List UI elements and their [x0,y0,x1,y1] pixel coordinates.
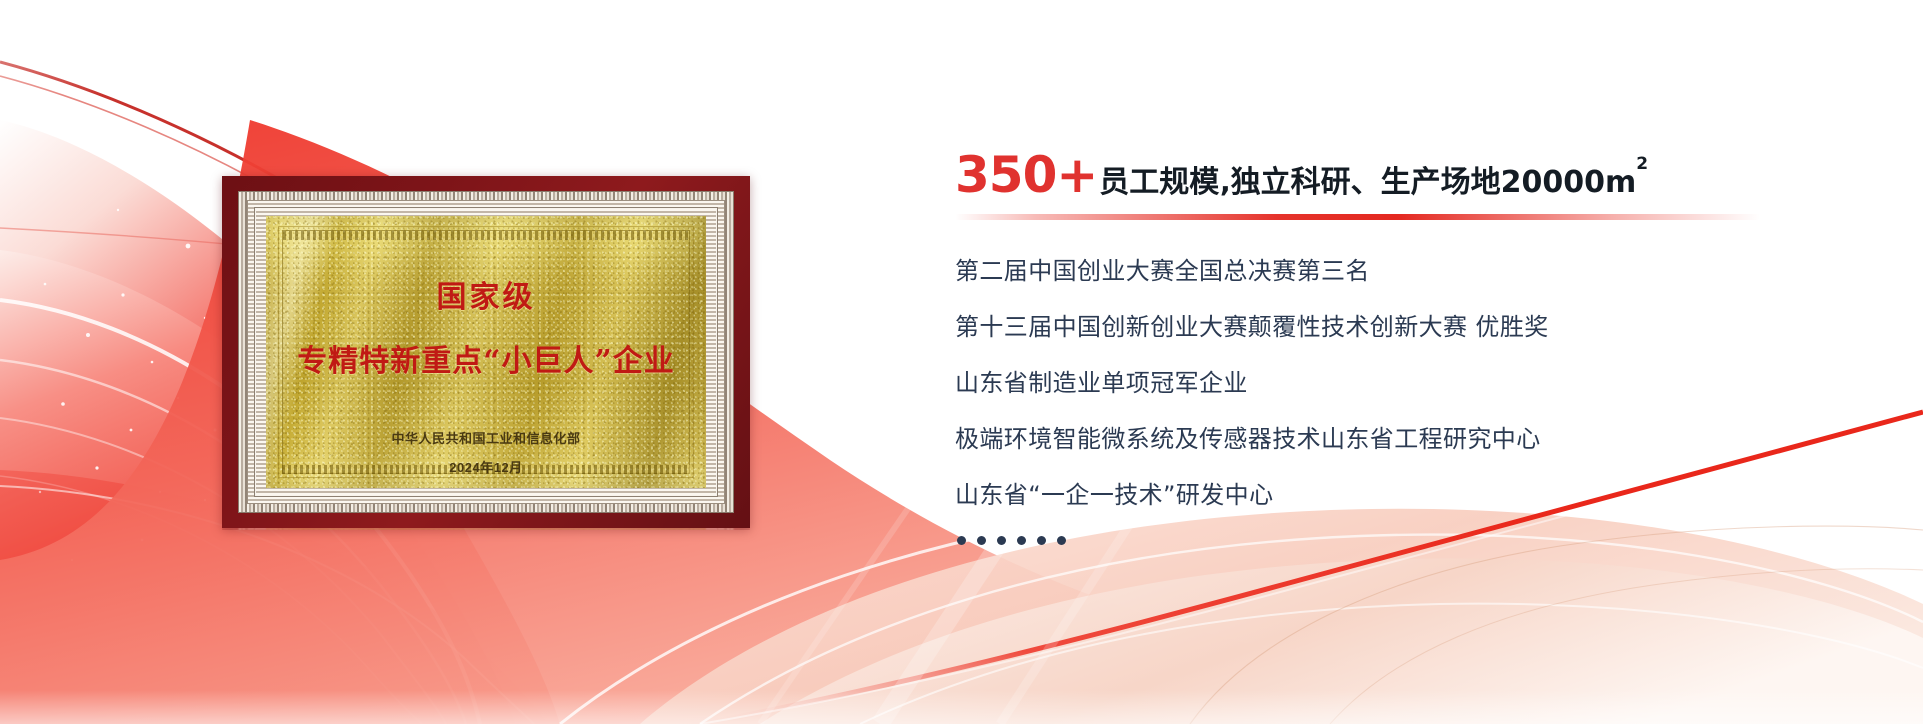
more-items-ellipsis [957,536,1835,545]
ellipsis-dot [977,536,986,545]
headline-text: 员工规模‚独立科研、生产场地20000m2 [1099,168,1648,198]
plaque-issuer: 中华人民共和国工业和信息化部 [391,428,580,447]
ellipsis-dot [1017,536,1026,545]
content-column: 350+ 员工规模‚独立科研、生产场地20000m2 第二届中国创业大赛全国总决… [955,150,1835,545]
banner-stage: 国家级 专精特新重点“小巨人”企业 中华人民共和国工业和信息化部 2024年12… [0,0,1923,724]
award-item: 第二届中国创业大赛全国总决赛第三名 [955,256,1835,286]
ellipsis-dot [957,536,966,545]
ellipsis-dot [997,536,1006,545]
award-item: 山东省制造业单项冠军企业 [955,368,1835,398]
plaque-date: 2024年12月 [449,457,522,476]
awards-list: 第二届中国创业大赛全国总决赛第三名 第十三届中国创新创业大赛颠覆性技术创新大赛 … [955,256,1835,545]
headline-superscript: 2 [1636,154,1648,174]
headline-text-body: 员工规模‚独立科研、生产场地20000m [1099,165,1636,200]
award-item: 山东省“一企一技术”研发中心 [955,480,1835,510]
ellipsis-dot [1037,536,1046,545]
ellipsis-dot [1057,536,1066,545]
plaque-title-line-1: 国家级 [437,272,536,316]
award-item: 第十三届中国创新创业大赛颠覆性技术创新大赛 优胜奖 [955,312,1835,342]
plaque-text-block: 国家级 专精特新重点“小巨人”企业 中华人民共和国工业和信息化部 2024年12… [268,218,704,486]
award-item: 极端环境智能微系统及传感器技术山东省工程研究中心 [955,424,1835,454]
headline: 350+ 员工规模‚独立科研、生产场地20000m2 [955,150,1835,200]
plaque-frame: 国家级 专精特新重点“小巨人”企业 中华人民共和国工业和信息化部 2024年12… [222,176,750,528]
headline-underline [955,214,1760,220]
award-plaque: 国家级 专精特新重点“小巨人”企业 中华人民共和国工业和信息化部 2024年12… [222,176,750,528]
headline-number: 350+ [955,150,1097,200]
plaque-title-line-2: 专精特新重点“小巨人”企业 [297,336,675,380]
